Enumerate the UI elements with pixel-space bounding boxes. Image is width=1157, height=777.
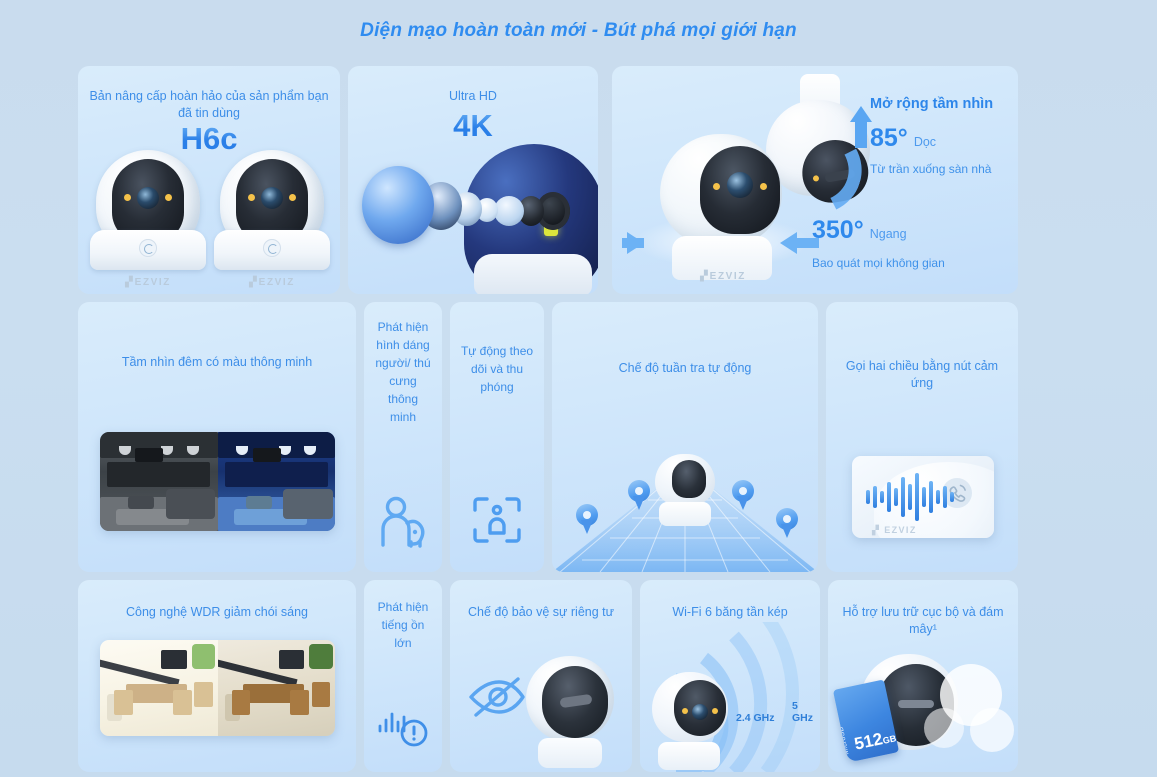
card-title-privacy: Chế độ bảo vệ sự riêng tư [450,604,632,621]
wdr-overexposed-half [100,640,218,736]
vertical-angle-value: 85°Dọc [870,124,936,153]
waveform-bar [943,486,947,508]
camera-pair-image: ▞EZVIZ ▞EZVIZ [78,144,340,294]
wifi-band-2-4ghz: 2.4 GHz [736,712,775,724]
horizontal-angle-number: 350° [812,216,864,244]
privacy-camera-image [522,652,618,768]
camera-head [660,134,782,246]
card-night-vision[interactable]: Tầm nhìn đêm có màu thông minh [78,302,356,572]
privacy-shutter [559,694,592,708]
tv [135,448,163,462]
ir-led-right [165,194,172,201]
chair [114,690,133,715]
card-privacy-mode[interactable]: Chế độ bảo vệ sự riêng tư [450,580,632,772]
waveform-bar [894,488,898,506]
wifi-band-5ghz: 5 GHz [792,700,820,724]
patrol-camera-image [651,454,719,528]
card-title-patrol: Chế độ tuần tra tự động [552,360,818,377]
sofa [283,489,332,519]
brand-logo: ▞ EZVIZ [872,525,917,536]
camera-front-image: ▞EZVIZ [642,134,804,284]
card-pan-tilt[interactable]: Mở rộng tầm nhìn 85°Dọc Từ trần xuống sà… [612,66,1018,294]
camera-closeup: ▞ EZVIZ [852,456,994,538]
sofa [166,489,215,519]
waveform-bar [866,490,870,504]
camera-base [474,254,592,294]
brand-logo: ▞EZVIZ [642,271,804,282]
foliage [309,644,333,669]
card-wifi[interactable]: Wi-Fi 6 băng tần kép 2.4 GHz 5 GHz [640,580,820,772]
camera-body [90,230,206,270]
card-shape-detection[interactable]: Phát hiện hình dáng người/ thú cưng thôn… [364,302,442,572]
ir-led-right [712,708,718,714]
brand-name: EZVIZ [710,271,746,282]
patrol-pin-icon [576,504,598,534]
brand-logo-right: ▞EZVIZ [210,277,334,288]
card-noise-detection[interactable]: Phát hiện tiếng ồn lớn [364,580,442,772]
waveform-bar [887,482,891,512]
night-vision-comparison-image [100,432,335,531]
card-resolution[interactable]: Ultra HD 4K [348,66,598,294]
tv [279,650,305,669]
lens-element-1 [362,166,434,244]
horizontal-angle-caption: Bao quát mọi không gian [812,256,945,270]
waveform-bar [908,484,912,510]
card-storage[interactable]: Hỗ trợ lưu trữ cục bộ và đám mây¹ MicroS… [828,580,1018,772]
horizontal-angle-unit: Ngang [870,227,907,241]
horizontal-angle-value: 350°Ngang [812,216,907,245]
card-title-h6c: Bản nâng cấp hoàn hảo của sản phẩm bạn đ… [78,88,340,122]
card-title-wdr: Công nghệ WDR giảm chói sáng [78,604,356,621]
camera-call-button [139,239,157,257]
card-title-resolution: Ultra HD [348,88,598,105]
camera-lens [692,704,708,720]
card-patrol-mode[interactable]: Chế độ tuần tra tự động [552,302,818,572]
chair [312,682,331,707]
sd-card-slot [898,700,934,708]
cloud-icon [970,708,1014,752]
patrol-pin-icon [732,480,754,510]
vertical-angle-caption: Từ trần xuống sàn nhà [870,162,991,176]
chair [173,690,192,715]
tracking-frame-icon [471,495,523,550]
night-vision-color-half [218,432,336,531]
vertical-angle-number: 85° [870,124,908,152]
camera-lens-face [672,460,706,498]
camera-head [652,672,728,742]
ir-led-left [248,194,255,201]
night-vision-mono-half [100,432,218,531]
card-title-two-way-call: Gọi hai chiều bằng nút cảm ứng [826,358,1018,392]
lens-element-5 [494,196,524,226]
camera-base [538,738,602,768]
card-title-noise-detection: Phát hiện tiếng ồn lớn [364,598,442,652]
brand-mark: ▞ [249,277,257,288]
camera-lens-face [542,666,608,738]
waveform-bar [950,492,954,502]
kitchen-counter [107,462,210,488]
card-title-storage: Hỗ trợ lưu trữ cục bộ và đám mây¹ [828,604,1018,638]
card-auto-tracking[interactable]: Tự động theo dõi và thu phóng [450,302,544,572]
eye-off-icon [466,673,528,726]
patrol-pin-icon [776,508,798,538]
waveform-bar [929,481,933,513]
wdr-corrected-half [218,640,336,736]
camera-head [526,656,614,742]
tilt-arrow-up-icon [850,106,872,122]
brand-mark: ▞ [700,271,708,282]
patrol-pin-icon [628,480,650,510]
sound-alert-icon [376,709,430,756]
camera-lens-face [700,146,780,234]
ir-led-left [682,708,688,714]
camera-unit-right: ▞EZVIZ [210,148,334,288]
brand-name: EZVIZ [259,277,295,288]
waveform-bar [936,490,940,504]
camera-head [655,454,715,506]
lens-exploded-image [348,138,598,294]
ir-led-left [124,194,131,201]
camera-base [658,742,720,770]
card-title-auto-tracking: Tự động theo dõi và thu phóng [450,342,544,396]
wifi-camera-image [648,672,732,770]
card-two-way-call[interactable]: Gọi hai chiều bằng nút cảm ứng ▞ EZVIZ [826,302,1018,572]
camera-lens [137,187,159,209]
ir-led-right [760,183,767,190]
camera-call-button [263,239,281,257]
brand-logo-left: ▞EZVIZ [86,277,210,288]
ottoman [246,496,272,509]
chair [290,690,309,715]
foliage [192,644,216,669]
waveform-bar [901,477,905,517]
brand-name: EZVIZ [135,277,171,288]
pan-tilt-heading: Mở rộng tầm nhìn [870,96,993,112]
camera-base [659,502,711,526]
capacity-unit: GB [882,733,897,746]
wdr-comparison-image [100,640,335,736]
waveform-bar [873,486,877,508]
tv [253,448,281,462]
camera-lens [261,187,283,209]
card-title-night-vision: Tầm nhìn đêm có màu thông minh [78,354,356,371]
ottoman [128,496,154,509]
waveform-bar [915,473,919,521]
chair [232,690,251,715]
ir-led-left [713,183,720,190]
card-wdr[interactable]: Công nghệ WDR giảm chói sáng [78,580,356,772]
ir-led-right [289,194,296,201]
vertical-angle-unit: Dọc [914,135,936,149]
card-title-wifi: Wi-Fi 6 băng tần kép [640,604,820,621]
card-product-upgrade[interactable]: Bản nâng cấp hoàn hảo của sản phẩm bạn đ… [78,66,340,294]
feature-page: Diện mạo hoàn toàn mới - Bút phá mọi giớ… [0,0,1157,777]
waveform-bar [880,491,884,503]
card-title-shape-detection: Phát hiện hình dáng người/ thú cưng thôn… [364,318,442,426]
capacity-number: 512 [853,729,885,753]
brand-mark: ▞ [125,277,133,288]
page-title: Diện mạo hoàn toàn mới - Bút phá mọi giớ… [0,20,1157,42]
waveform-bar [922,487,926,507]
chair [194,682,213,707]
microsd-capacity: 512GB [853,726,898,754]
tv [161,650,187,669]
person-pet-icon [377,495,429,554]
cloud-icon [924,708,964,748]
camera-lens [727,172,753,198]
camera-unit-left: ▞EZVIZ [86,148,210,288]
kitchen-counter [225,462,328,488]
two-way-call-image: ▞ EZVIZ [852,456,994,538]
camera-body [214,230,330,270]
microsd-label: MicroSD [838,726,851,756]
